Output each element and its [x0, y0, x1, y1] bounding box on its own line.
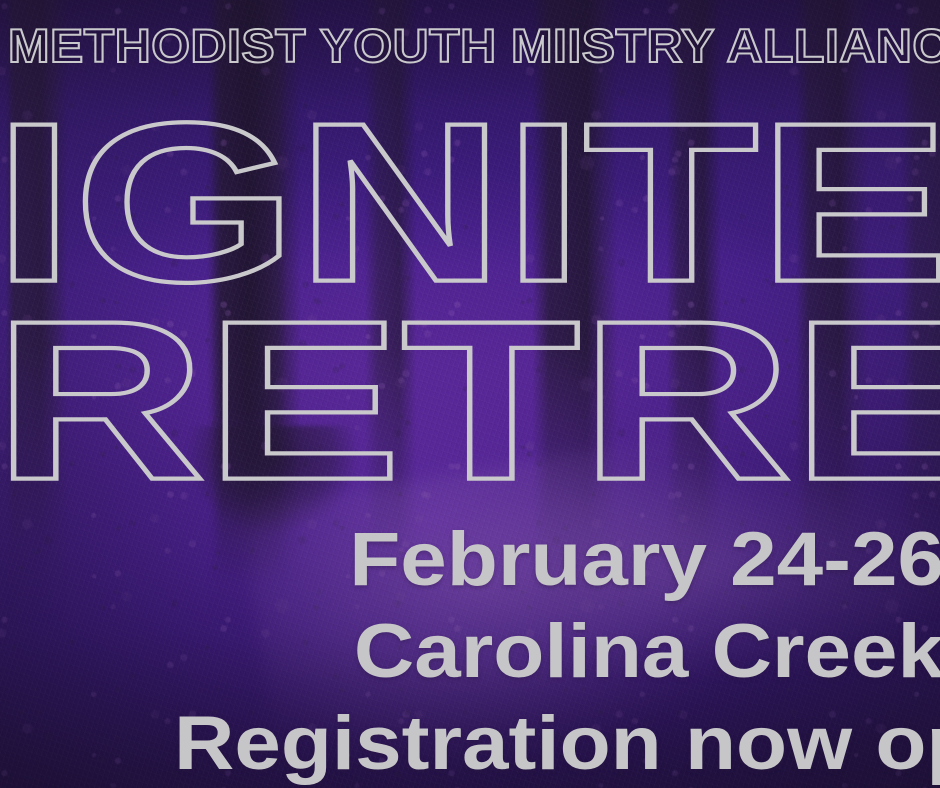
registration-status: Registration now open! — [174, 706, 940, 782]
headline-retreat: Retreat — [0, 290, 940, 512]
event-dates: February 24-26 — [174, 522, 940, 598]
event-details: February 24-26 Carolina Creek Registrati… — [244, 522, 940, 782]
event-venue: Carolina Creek — [174, 614, 940, 690]
presenter-kicker: Methodist Youth Miistry Alliance Present… — [8, 20, 940, 72]
flyer-content: Methodist Youth Miistry Alliance Present… — [0, 0, 940, 788]
event-flyer: Methodist Youth Miistry Alliance Present… — [0, 0, 940, 788]
